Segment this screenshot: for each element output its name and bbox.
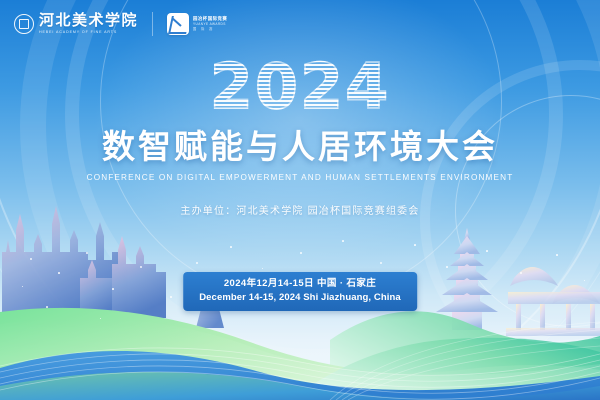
yuanye-cup-logo-icon [167,13,189,35]
academy-name-cn: 河北美术学院 [39,14,138,29]
logo-divider [152,12,153,36]
partner-name-en: YUANYE AWARDS [193,23,227,26]
year-text: 2024 [210,56,391,118]
partner-sub: 国 际 赛 [193,28,227,31]
chinese-pagoda-silhouette [436,228,498,330]
header-logos: 河北美术学院 HEBEI ACADEMY OF FINE ARTS 园冶杯国际竞… [14,12,227,36]
academy-logo: 河北美术学院 HEBEI ACADEMY OF FINE ARTS [14,14,138,35]
chinese-pavilion-silhouette [506,266,600,336]
status-badge: 2024年12月14-15日 中国 · 石家庄 December 14-15, … [183,272,417,311]
partner-logo-text: 园冶杯国际竞赛 YUANYE AWARDS 国 际 赛 [193,17,227,31]
academy-logo-text: 河北美术学院 HEBEI ACADEMY OF FINE ARTS [39,14,138,35]
year-block: 2024 [0,56,600,118]
organizer-line: 主办单位：河北美术学院 园冶杯国际竞赛组委会 [0,207,600,217]
page-subtitle: CONFERENCE ON DIGITAL EMPOWERMENT AND HU… [0,174,600,182]
date-line-en: December 14-15, 2024 Shi Jiazhuang, Chin… [199,291,401,305]
partner-name-cn: 园冶杯国际竞赛 [193,17,227,21]
conference-banner: 河北美术学院 HEBEI ACADEMY OF FINE ARTS 园冶杯国际竞… [0,0,600,400]
academy-name-en: HEBEI ACADEMY OF FINE ARTS [39,31,138,35]
date-line-cn: 2024年12月14-15日 中国 · 石家庄 [199,277,401,291]
circle-seal-icon [14,14,34,34]
page-title: 数智赋能与人居环境大会 [0,128,600,166]
partner-logo: 园冶杯国际竞赛 YUANYE AWARDS 国 际 赛 [167,13,227,35]
